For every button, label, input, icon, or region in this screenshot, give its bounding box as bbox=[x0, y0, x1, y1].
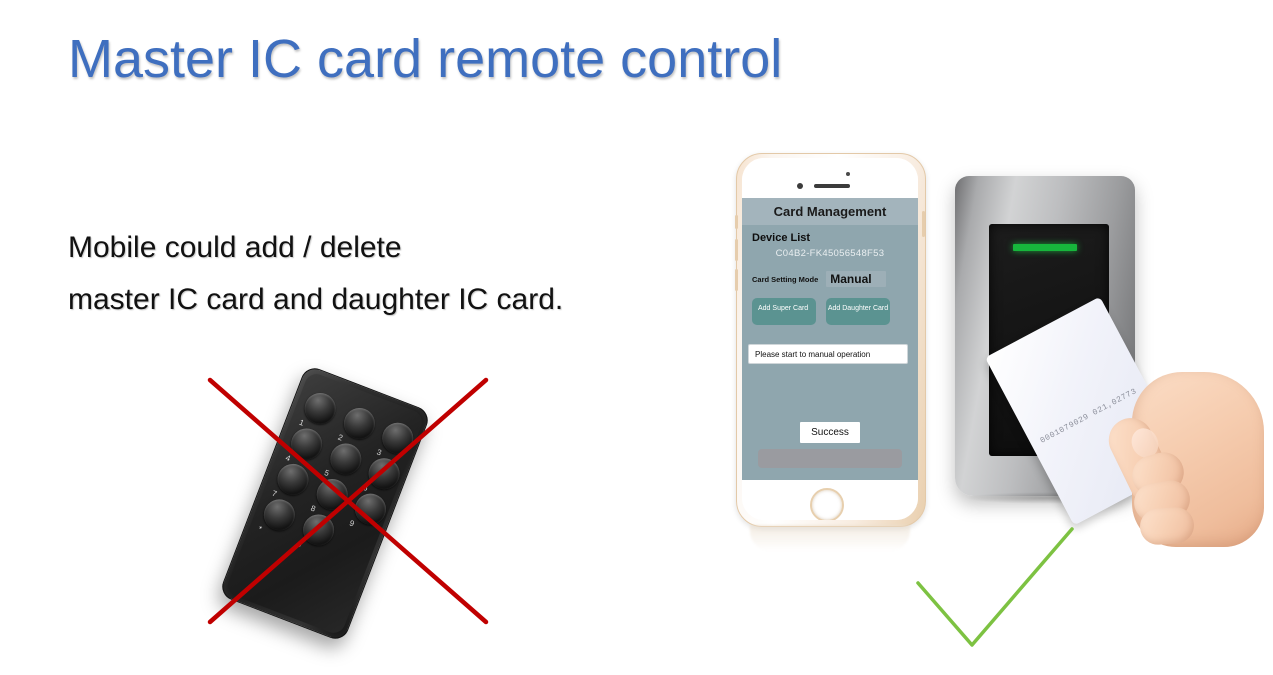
front-camera-icon bbox=[797, 183, 803, 189]
app-body: Device List C04B2-FK45056548F53 Card Set… bbox=[742, 225, 918, 325]
add-super-card-button[interactable]: Add Super Card bbox=[752, 298, 816, 325]
smartphone: Card Management Device List C04B2-FK4505… bbox=[736, 153, 924, 539]
card-setting-mode-value[interactable]: Manual bbox=[826, 271, 885, 287]
red-x-icon bbox=[196, 370, 496, 635]
card-setting-mode-label: Card Setting Mode bbox=[752, 275, 818, 284]
progress-bar bbox=[758, 449, 902, 468]
instruction-toast: Please start to manual operation bbox=[748, 344, 908, 364]
sensor-dot-icon bbox=[846, 172, 850, 176]
phone-bottom-bezel bbox=[742, 480, 918, 520]
body-line-2: master IC card and daughter IC card. bbox=[68, 274, 563, 326]
remote-control-illustration: 1 2 3 4 5 6 7 8 9 * bbox=[196, 370, 496, 635]
card-setting-mode-row: Card Setting Mode Manual bbox=[752, 271, 908, 287]
slide-canvas: Master IC card remote control Mobile cou… bbox=[0, 0, 1273, 675]
body-line-1: Mobile could add / delete bbox=[68, 222, 563, 274]
app-header: Card Management bbox=[742, 198, 918, 225]
earpiece-speaker-icon bbox=[814, 184, 850, 188]
status-led-indicator bbox=[1013, 244, 1077, 251]
phone-power-button[interactable] bbox=[922, 211, 925, 237]
home-button[interactable] bbox=[810, 488, 844, 520]
ring-finger bbox=[1139, 506, 1195, 546]
phone-top-bezel bbox=[742, 158, 918, 198]
card-action-buttons: Add Super Card Add Daughter Card bbox=[752, 298, 908, 325]
phone-volume-down-button[interactable] bbox=[735, 269, 738, 291]
status-toast: Success bbox=[800, 422, 860, 443]
phone-reflection bbox=[750, 525, 910, 551]
device-id-value[interactable]: C04B2-FK45056548F53 bbox=[752, 248, 908, 259]
body-copy: Mobile could add / delete master IC card… bbox=[68, 222, 563, 326]
app-title: Card Management bbox=[774, 204, 887, 219]
phone-volume-up-button[interactable] bbox=[735, 239, 738, 261]
hand-holding-card bbox=[1110, 350, 1273, 580]
add-daughter-card-button[interactable]: Add Daughter Card bbox=[826, 298, 890, 325]
page-title: Master IC card remote control bbox=[68, 28, 782, 90]
green-check-icon bbox=[900, 505, 1120, 675]
device-list-label: Device List bbox=[752, 232, 908, 244]
phone-silent-switch[interactable] bbox=[735, 215, 738, 229]
phone-inner: Card Management Device List C04B2-FK4505… bbox=[742, 158, 918, 520]
app-screen: Card Management Device List C04B2-FK4505… bbox=[742, 198, 918, 480]
